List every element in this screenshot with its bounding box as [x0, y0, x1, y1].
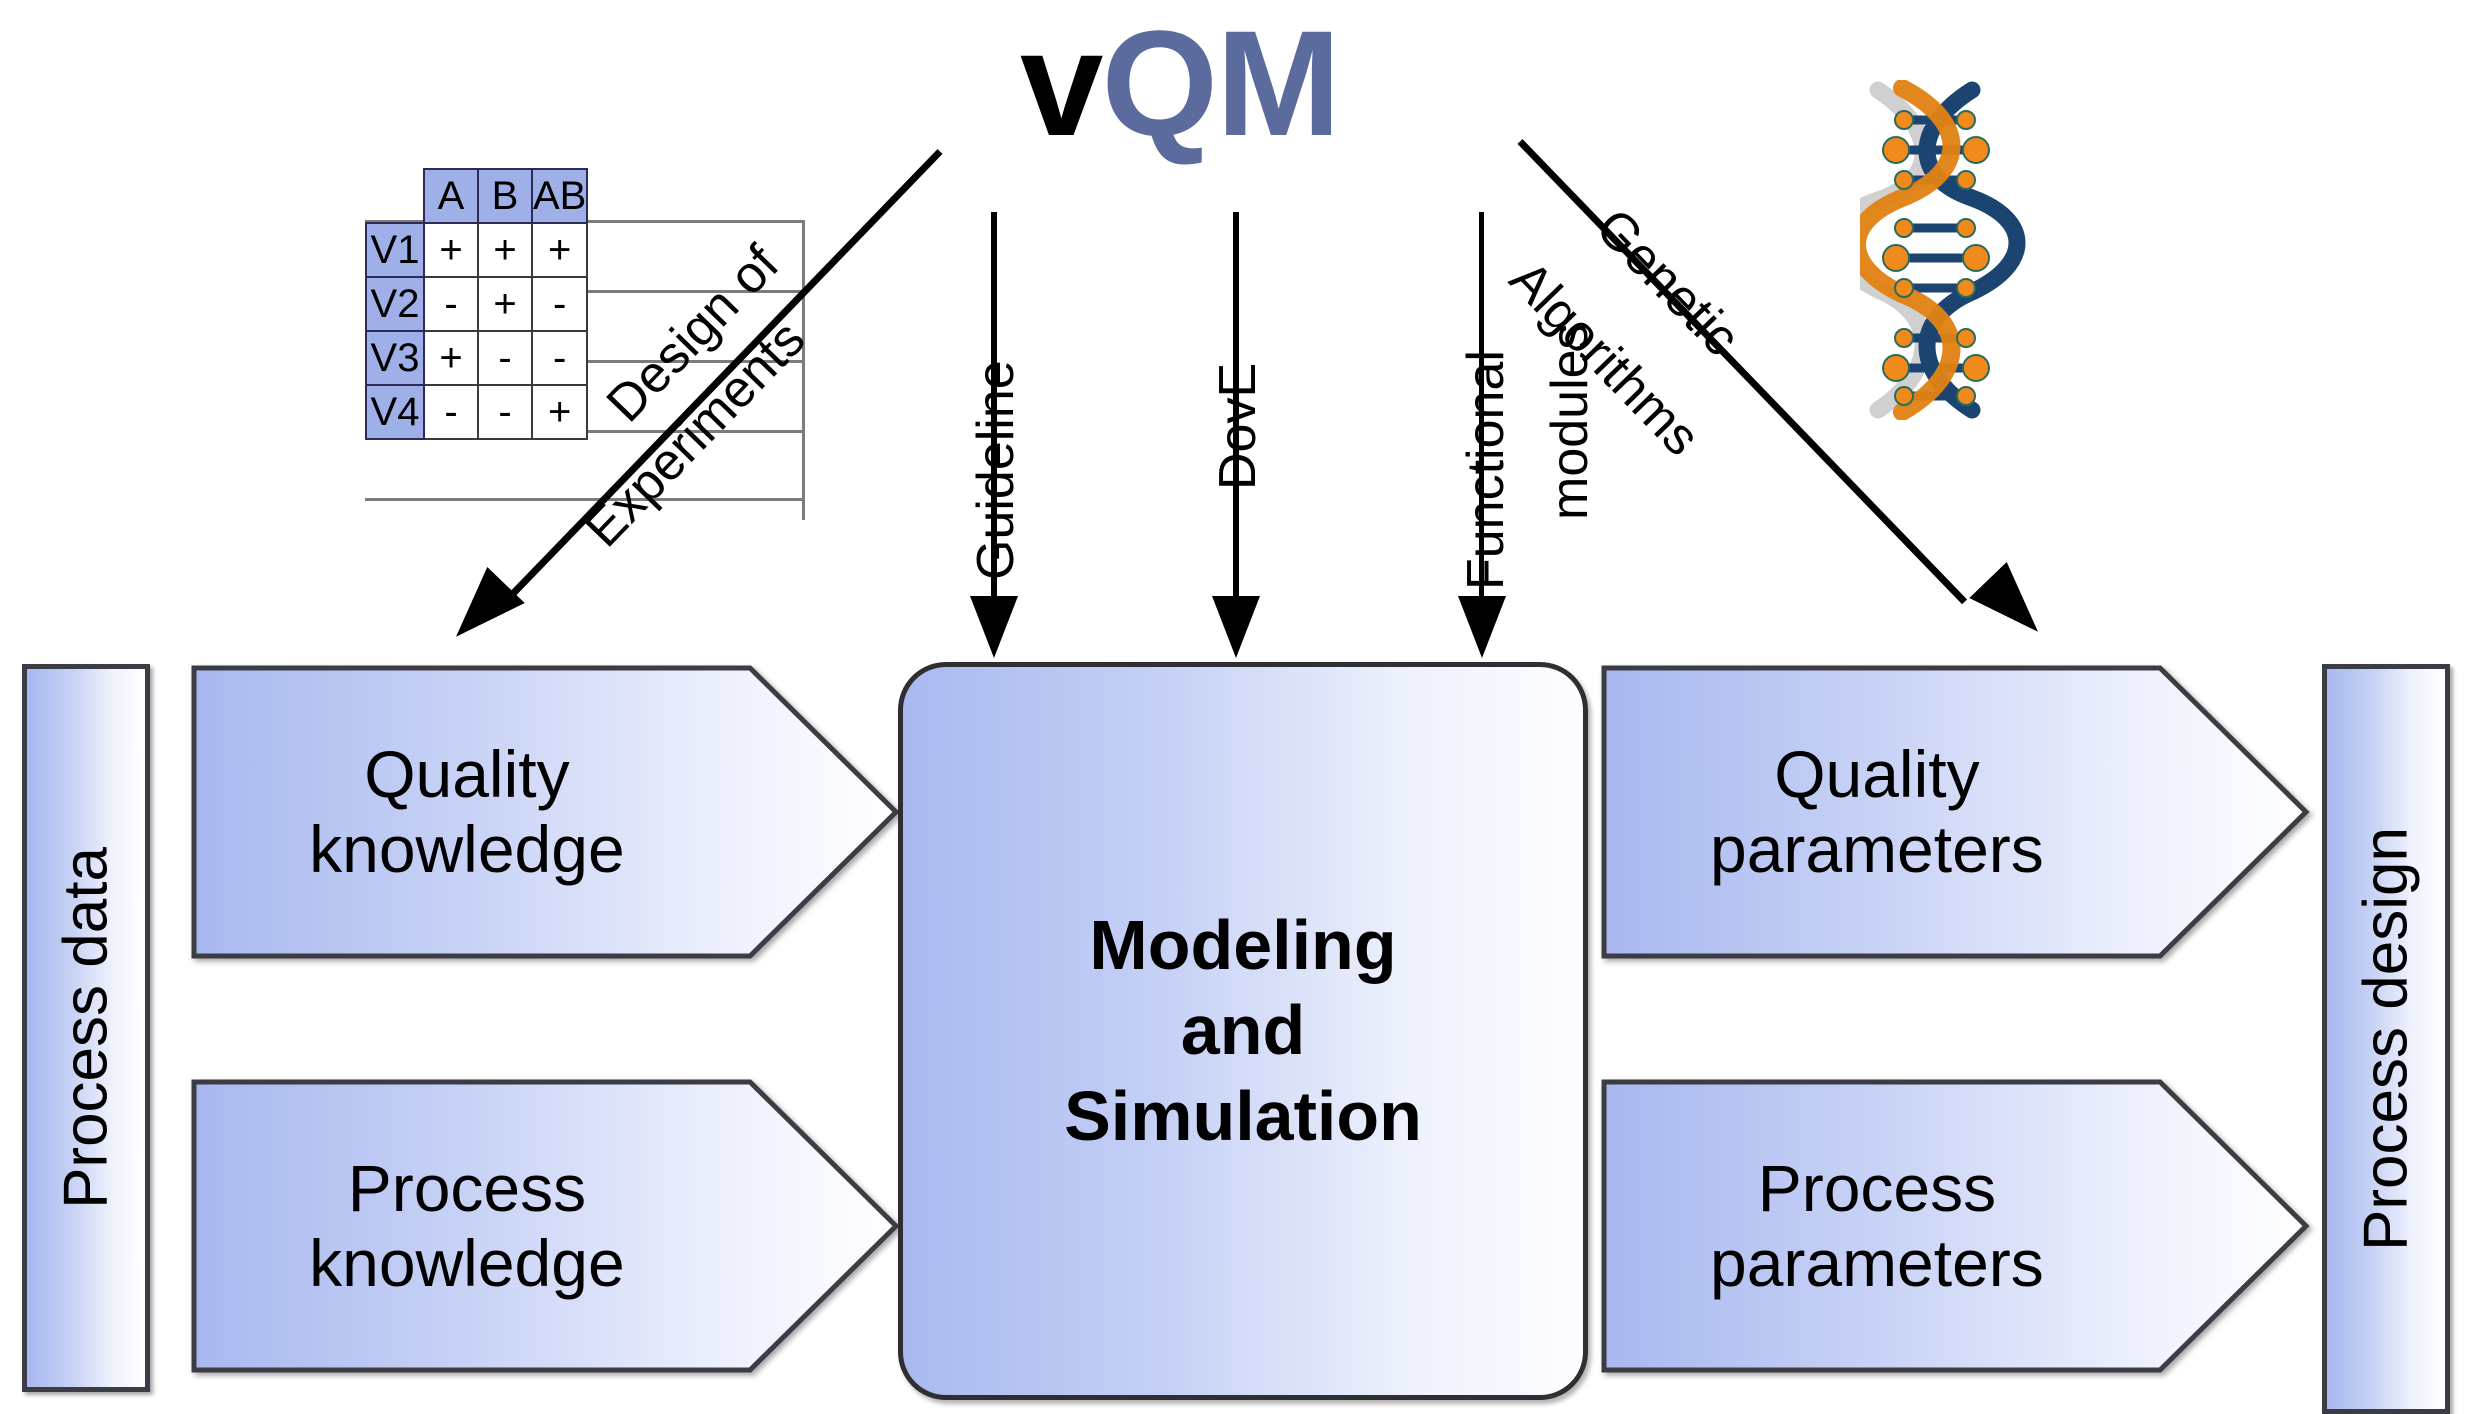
center-box-line1: Modeling — [1089, 903, 1396, 988]
functional-modules-arrow-head — [1458, 596, 1506, 658]
page-title: vQM — [1020, 8, 1339, 158]
dove-arrow-head — [1212, 596, 1260, 658]
table-row: V1 + + + — [366, 223, 587, 277]
row-label-v1: V1 — [366, 223, 424, 277]
process-design-bar[interactable]: Process design — [2322, 664, 2450, 1414]
cell-v1-b: + — [478, 223, 532, 277]
cell-v2-b: + — [478, 277, 532, 331]
table-row: V4 - - + — [366, 385, 587, 439]
guideline-arrow-label: Guideline — [970, 360, 1022, 580]
cell-v1-ab: + — [532, 223, 587, 277]
process-data-bar[interactable]: Process data — [22, 664, 150, 1392]
column-header-b: B — [478, 169, 532, 223]
cell-v4-b: - — [478, 385, 532, 439]
cell-v2-a: - — [424, 277, 478, 331]
diagram-canvas: vQM A B AB V1 + + + V2 - — [0, 0, 2471, 1409]
process-design-label: Process design — [2351, 827, 2422, 1251]
quality-knowledge-line2: knowledge — [309, 812, 625, 887]
design-of-experiments-arrow-head — [437, 567, 524, 655]
cell-v2-ab: - — [532, 277, 587, 331]
column-header-ab: AB — [532, 169, 587, 223]
table-corner-cell — [366, 169, 424, 223]
quality-parameters-line2: parameters — [1710, 812, 2044, 887]
table-row: V2 - + - — [366, 277, 587, 331]
row-label-v3: V3 — [366, 331, 424, 385]
functional-modules-arrow-label-left: Functional — [1460, 350, 1512, 590]
quality-knowledge-arrow[interactable]: Quality knowledge — [190, 664, 900, 960]
quality-knowledge-line1: Quality — [364, 737, 569, 812]
cell-v3-b: - — [478, 331, 532, 385]
center-box-line2: and — [1181, 988, 1305, 1073]
cell-v1-a: + — [424, 223, 478, 277]
modeling-and-simulation-box[interactable]: Modeling and Simulation — [898, 662, 1588, 1400]
process-parameters-line1: Process — [1758, 1151, 1996, 1226]
quality-knowledge-label: Quality knowledge — [190, 664, 744, 960]
process-knowledge-label: Process knowledge — [190, 1078, 744, 1374]
process-knowledge-line1: Process — [348, 1151, 586, 1226]
process-data-label: Process data — [51, 847, 122, 1209]
guideline-arrow-head — [970, 596, 1018, 658]
process-parameters-arrow[interactable]: Process parameters — [1600, 1078, 2310, 1374]
cell-v4-ab: + — [532, 385, 587, 439]
quality-parameters-line1: Quality — [1774, 737, 1979, 812]
title-suffix: QM — [1101, 0, 1339, 167]
genetic-algorithms-arrow-head — [1969, 562, 2056, 650]
doe-table-grid: A B AB V1 + + + V2 - + - V3 + - - — [365, 168, 588, 440]
doe-table: A B AB V1 + + + V2 - + - V3 + - - — [365, 168, 588, 440]
process-parameters-line2: parameters — [1710, 1226, 2044, 1301]
title-prefix: v — [1020, 0, 1101, 167]
dna-helix-icon — [1860, 80, 2030, 420]
cell-v3-a: + — [424, 331, 478, 385]
process-parameters-label: Process parameters — [1600, 1078, 2154, 1374]
center-box-line3: Simulation — [1064, 1074, 1422, 1159]
process-knowledge-arrow[interactable]: Process knowledge — [190, 1078, 900, 1374]
cell-v3-ab: - — [532, 331, 587, 385]
table-row: V3 + - - — [366, 331, 587, 385]
row-label-v4: V4 — [366, 385, 424, 439]
dove-arrow-label: DovE — [1212, 363, 1264, 490]
cell-v4-a: - — [424, 385, 478, 439]
quality-parameters-label: Quality parameters — [1600, 664, 2154, 960]
process-knowledge-line2: knowledge — [309, 1226, 625, 1301]
table-header-row: A B AB — [366, 169, 587, 223]
row-label-v2: V2 — [366, 277, 424, 331]
quality-parameters-arrow[interactable]: Quality parameters — [1600, 664, 2310, 960]
column-header-a: A — [424, 169, 478, 223]
